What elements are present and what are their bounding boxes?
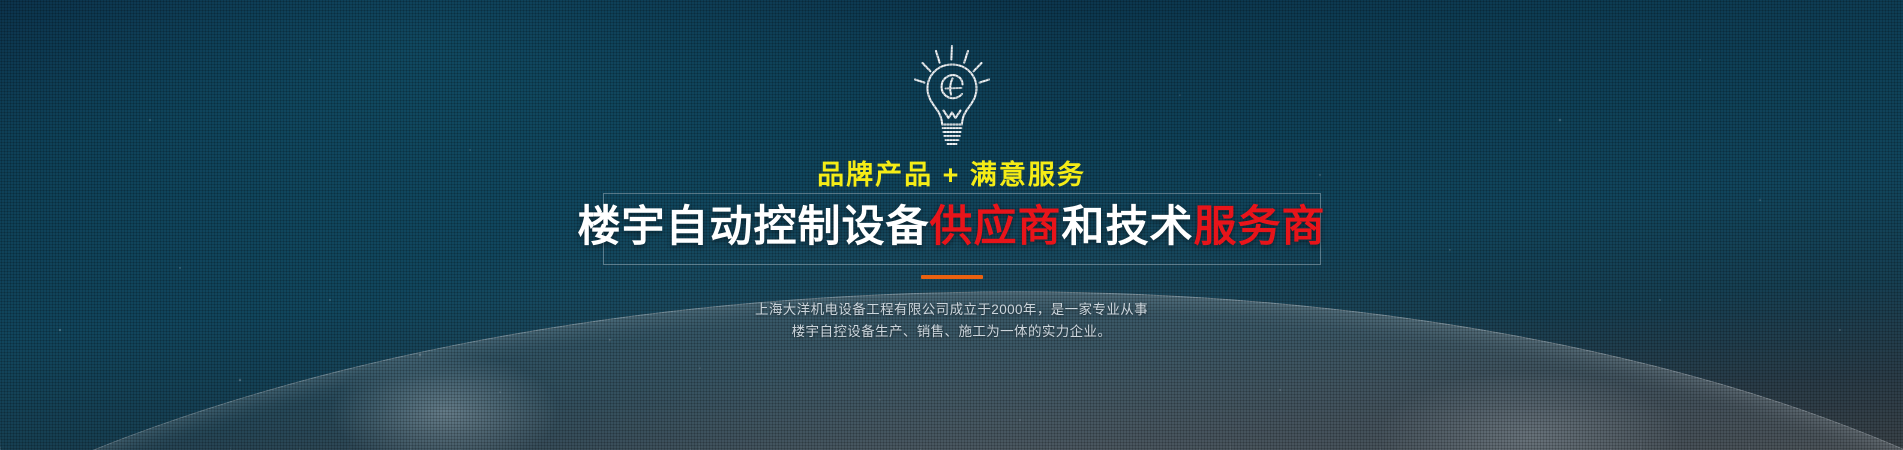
- hero-banner: 品牌产品 + 满意服务 楼宇自动控制设备供应商和技术服务商 上海大洋机电设备工程…: [0, 0, 1903, 450]
- description-line-2: 楼宇自控设备生产、销售、施工为一体的实力企业。: [755, 321, 1148, 343]
- banner-description: 上海大洋机电设备工程有限公司成立于2000年，是一家专业从事 楼宇自控设备生产、…: [755, 299, 1148, 343]
- description-line-1: 上海大洋机电设备工程有限公司成立于2000年，是一家专业从事: [755, 299, 1148, 321]
- headline-highlight-supplier: 供应商: [930, 203, 1062, 251]
- banner-headline: 楼宇自动控制设备供应商和技术服务商: [578, 206, 1326, 249]
- banner-content: 品牌产品 + 满意服务 楼宇自动控制设备供应商和技术服务商 上海大洋机电设备工程…: [0, 0, 1903, 450]
- lightbulb-idea-icon: [906, 44, 998, 148]
- headline-part-3: 和技术: [1062, 203, 1194, 251]
- banner-tagline: 品牌产品 + 满意服务: [817, 162, 1086, 189]
- orange-divider: [921, 275, 983, 279]
- headline-highlight-service: 服务商: [1194, 203, 1326, 251]
- headline-part-1: 楼宇自动控制设备: [578, 203, 930, 251]
